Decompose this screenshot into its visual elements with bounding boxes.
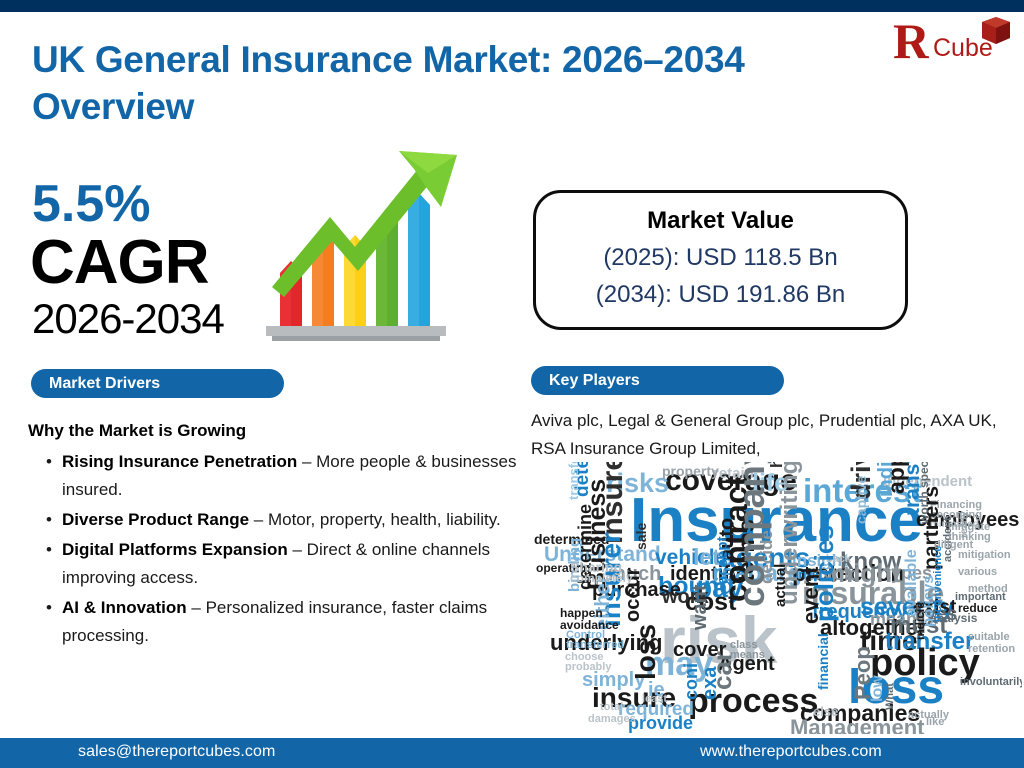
- word-cloud-word: actual: [773, 564, 788, 607]
- word-cloud-word: retention: [968, 644, 1015, 655]
- word-cloud-word: sale: [634, 523, 648, 550]
- market-driver-item: AI & Innovation – Personalized insurance…: [62, 594, 532, 650]
- word-cloud-word: transference: [567, 462, 580, 500]
- market-driver-term: Rising Insurance Penetration: [62, 452, 297, 471]
- word-cloud-word: What: [885, 683, 896, 710]
- page-title: UK General Insurance Market: 2026–2034 O…: [32, 36, 862, 130]
- word-cloud-word: captive: [854, 476, 868, 524]
- key-players-text: Aviva plc, Legal & General Group plc, Pr…: [531, 407, 1001, 463]
- footer-bar: sales@thereportcubes.com www.thereportcu…: [0, 738, 1024, 768]
- word-cloud-word: like: [926, 717, 944, 728]
- word-cloud-word: damages: [588, 714, 636, 725]
- word-cloud-word: Management: [790, 717, 924, 734]
- word-cloud-word: transferred: [566, 640, 624, 651]
- market-drivers-pill: Market Drivers: [31, 369, 284, 398]
- word-cloud-word: exa: [700, 667, 720, 700]
- market-value-card: Market Value (2025): USD 118.5 Bn (2034)…: [533, 190, 908, 330]
- word-cloud-word: mitigation: [958, 550, 1011, 561]
- chart-base: [266, 326, 446, 341]
- word-cloud-word: total: [600, 702, 623, 713]
- word-cloud-word: coni: [682, 663, 700, 700]
- word-cloud-word: various: [958, 567, 997, 578]
- word-cloud-word: important: [955, 592, 1006, 603]
- market-driver-item: Digital Platforms Expansion – Direct & o…: [62, 536, 532, 592]
- word-cloud-word: financial: [816, 633, 830, 690]
- market-value-2034: (2034): USD 191.86 Bn: [536, 281, 905, 309]
- word-cloud-word: want: [690, 584, 710, 630]
- word-cloud-word: involuntarily: [960, 677, 1022, 688]
- word-cloud-word: provide: [628, 714, 693, 732]
- word-cloud-word: ie: [648, 680, 665, 700]
- market-driver-description: – Motor, property, health, liability.: [249, 510, 501, 529]
- insurance-word-cloud: InsurancecoverageriskslifeinterestIndepe…: [530, 462, 1022, 734]
- word-cloud-word: inconvenience: [933, 546, 944, 622]
- word-cloud-word: indicic: [914, 602, 926, 640]
- market-driver-item: Rising Insurance Penetration – More peop…: [62, 448, 532, 504]
- word-cloud-word: suitable: [968, 632, 1010, 643]
- growth-chart-graphic: [258, 143, 473, 343]
- key-players-pill: Key Players: [531, 366, 784, 395]
- word-cloud-word: diligent: [934, 540, 973, 551]
- word-cloud-word: loss: [632, 624, 660, 680]
- word-cloud-word: reduce: [958, 602, 997, 614]
- word-cloud-word: ready: [960, 511, 970, 538]
- market-driver-term: Digital Platforms Expansion: [62, 540, 288, 559]
- cagr-period: 2026-2034: [32, 298, 224, 340]
- cagr-label: CAGR: [30, 232, 209, 294]
- market-value-title: Market Value: [536, 207, 905, 235]
- logo-reversed-r-glyph: Я: [893, 12, 929, 70]
- company-logo: Я Cube: [893, 18, 1011, 68]
- footer-email[interactable]: sales@thereportcubes.com: [78, 743, 275, 761]
- word-cloud-word: policies: [811, 525, 837, 622]
- cagr-percent: 5.5%: [32, 178, 151, 230]
- market-drivers-list: Rising Insurance Penetration – More peop…: [40, 448, 532, 652]
- footer-website[interactable]: www.thereportcubes.com: [700, 743, 882, 761]
- market-driver-item: Diverse Product Range – Motor, property,…: [62, 506, 532, 534]
- word-cloud-word: worth specific: [918, 462, 930, 524]
- word-cloud-word: else: [813, 705, 838, 718]
- market-driver-term: Diverse Product Range: [62, 510, 249, 529]
- word-cloud-word: property: [662, 464, 719, 478]
- top-accent-bar: [0, 0, 1024, 12]
- word-cloud-word: company: [733, 462, 770, 607]
- word-cloud-word: completely: [570, 572, 633, 584]
- market-value-2025: (2025): USD 118.5 Bn: [536, 244, 905, 272]
- cube-icon: [981, 16, 1011, 48]
- market-drivers-subtitle: Why the Market is Growing: [28, 421, 246, 441]
- market-driver-term: AI & Innovation: [62, 598, 187, 617]
